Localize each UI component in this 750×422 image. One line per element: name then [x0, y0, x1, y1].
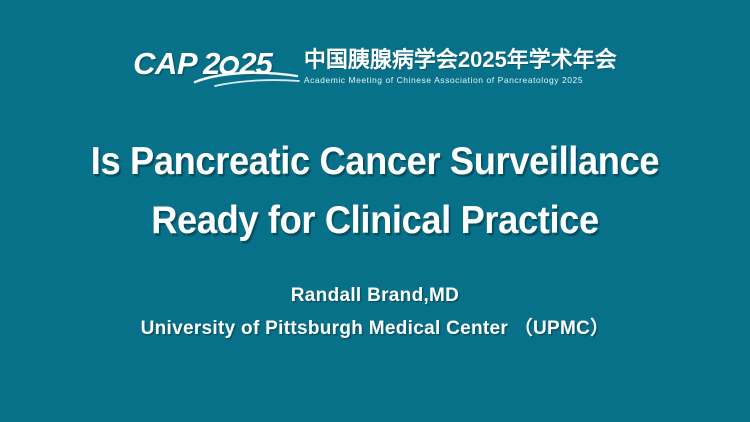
title-line-2: Ready for Clinical Practice — [26, 191, 724, 250]
speaker-credit: Randall Brand,MD University of Pittsburg… — [0, 281, 750, 344]
slide-title: Is Pancreatic Cancer Surveillance Ready … — [0, 132, 750, 250]
logo-year-2025: 2 25 — [203, 48, 272, 79]
logo-cap-text: CAP — [133, 48, 197, 79]
conference-title-group: 中国胰腺病学会2025年学术年会 Academic Meeting of Chi… — [304, 49, 617, 85]
conference-name-english: Academic Meeting of Chinese Association … — [304, 76, 583, 85]
speaker-affiliation: University of Pittsburgh Medical Center … — [0, 314, 750, 344]
logo-ring-zero-icon — [218, 56, 241, 75]
cap-2025-logo: CAP 2 25 — [133, 48, 272, 85]
speaker-name: Randall Brand,MD — [0, 281, 750, 311]
conference-header: CAP 2 25 中国胰腺病学会2025年学术年会 Academic Meeti… — [0, 48, 750, 85]
logo-year-digit-2: 2 — [203, 48, 219, 79]
logo-year-digits-25: 25 — [239, 48, 271, 79]
title-line-1: Is Pancreatic Cancer Surveillance — [26, 132, 724, 191]
presentation-slide: CAP 2 25 中国胰腺病学会2025年学术年会 Academic Meeti… — [0, 0, 750, 422]
conference-name-chinese: 中国胰腺病学会2025年学术年会 — [304, 49, 617, 71]
